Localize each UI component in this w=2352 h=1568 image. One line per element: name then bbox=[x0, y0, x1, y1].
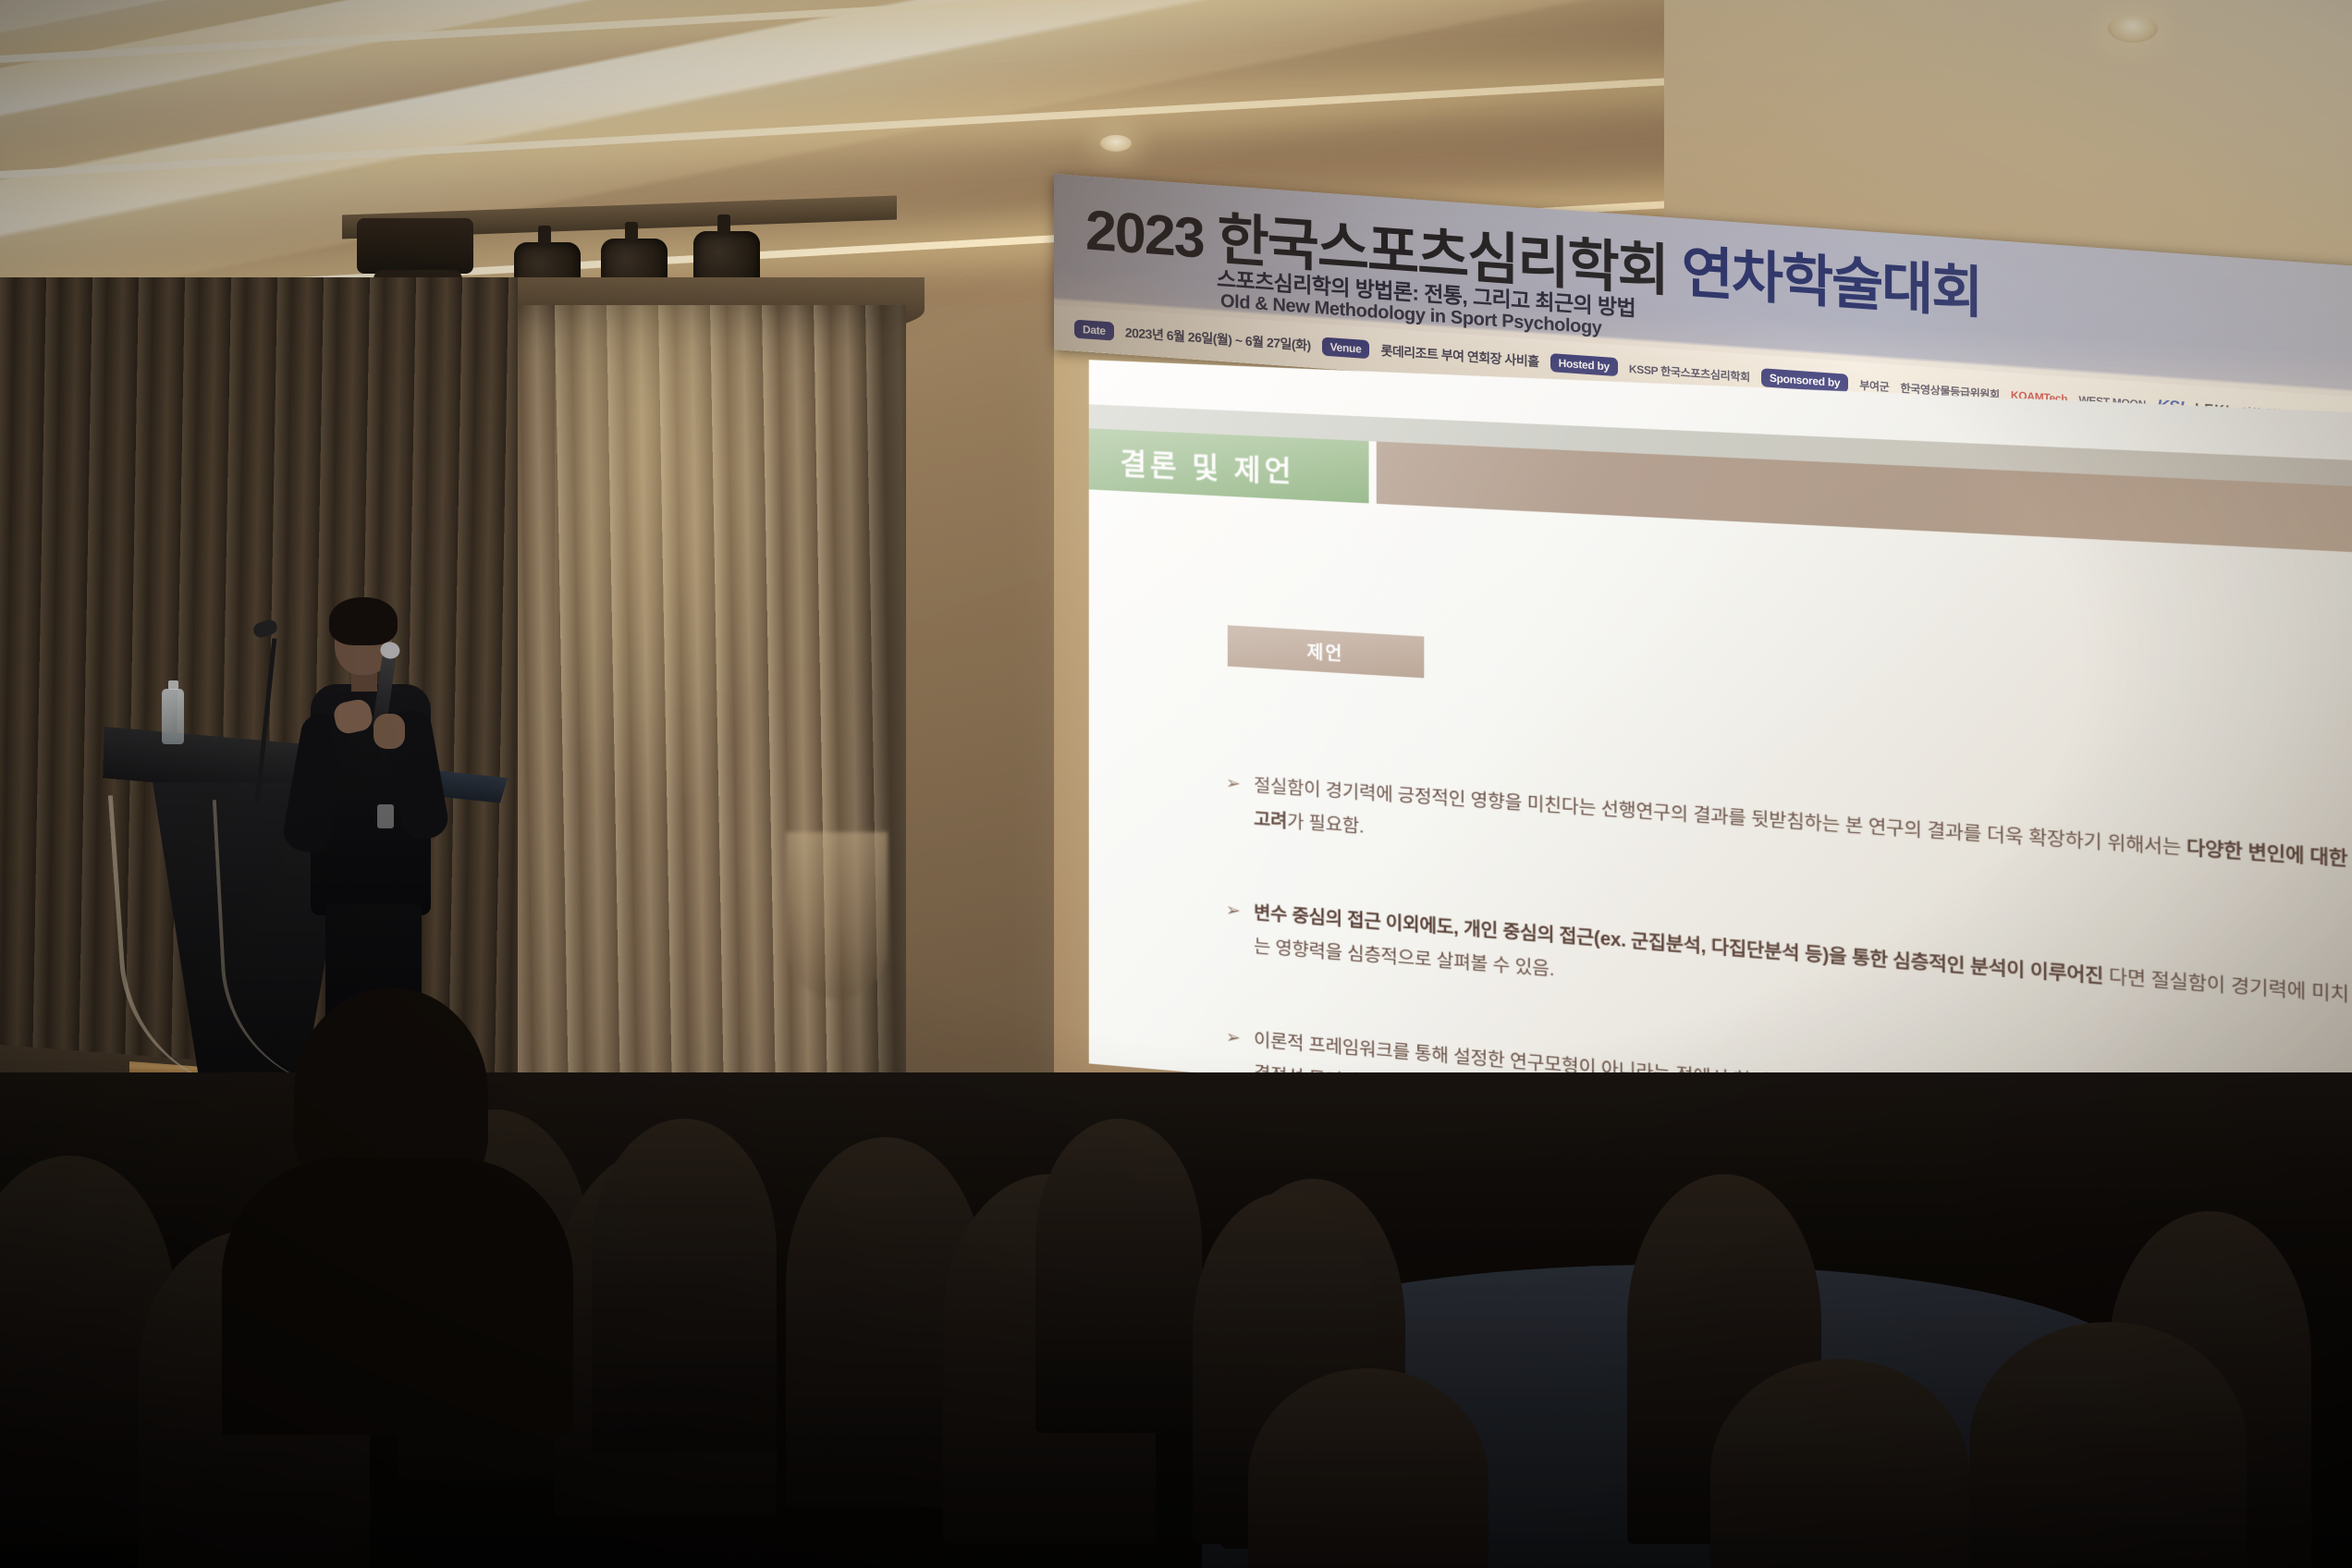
chair bbox=[592, 1119, 777, 1452]
bullet-item-2: ➢ 변수 중심의 접근 이외에도, 개인 중심의 접근(ex. 군집분석, 다집… bbox=[1226, 894, 2352, 1049]
presentation-slide: 결론 및 제언 제언 ➢ 절실함이 경기력에 긍정적인 영향을 미친다는 선행연… bbox=[1089, 360, 2352, 1177]
conference-room-photo: 2023 한국스포츠심리학회 연차학술대회 스포츠심리학의 방법론: 전통, 그… bbox=[0, 0, 2352, 1568]
audience-member-shoulders bbox=[222, 1158, 573, 1435]
banner-year: 2023 bbox=[1085, 198, 1204, 269]
chair bbox=[1035, 1119, 1202, 1433]
bullet-text-2: 변수 중심의 접근 이외에도, 개인 중심의 접근(ex. 군집분석, 다집단분… bbox=[1254, 896, 2352, 1049]
slide-title-text: 결론 및 제언 bbox=[1121, 439, 1295, 489]
bullet-1-line1: 절실함이 경기력에 긍정적인 영향을 미친다는 선행연구의 결과를 뒷받침하는 … bbox=[1254, 776, 2101, 854]
downlight-icon bbox=[2108, 15, 2158, 43]
presenter-right-hand bbox=[374, 714, 405, 749]
slide-subheading-text: 제언 bbox=[1307, 638, 1344, 666]
date-label-pill: Date bbox=[1074, 320, 1114, 341]
bullet-item-1: ➢ 절실함이 경기력에 긍정적인 영향을 미친다는 선행연구의 결과를 뒷받침하… bbox=[1226, 767, 2352, 914]
chair bbox=[1969, 1322, 2247, 1568]
bullet-1-line2-plain: 위해서는 bbox=[2107, 832, 2187, 859]
slide-title-block: 결론 및 제언 bbox=[1089, 428, 1369, 503]
presenter-name-badge bbox=[377, 804, 394, 828]
downlight-icon bbox=[1100, 135, 1132, 152]
curtain-highlight bbox=[555, 305, 795, 823]
slide-subheading-box: 제언 bbox=[1228, 625, 1424, 678]
bullet-marker-icon: ➢ bbox=[1226, 894, 1254, 963]
curtain-tieback bbox=[786, 832, 888, 998]
moving-head-light-icon bbox=[357, 218, 473, 274]
presenter-hair bbox=[329, 597, 398, 645]
cove-light-strip-2 bbox=[0, 69, 1812, 178]
cove-light-strip-1 bbox=[0, 0, 1757, 63]
bullet-1-line2-tail: 가 필요함. bbox=[1287, 812, 1364, 838]
bullet-text-1: 절실함이 경기력에 긍정적인 영향을 미친다는 선행연구의 결과를 뒷받침하는 … bbox=[1254, 769, 2352, 914]
bullet-marker-icon: ➢ bbox=[1226, 767, 1254, 837]
water-bottle-icon bbox=[162, 689, 184, 744]
